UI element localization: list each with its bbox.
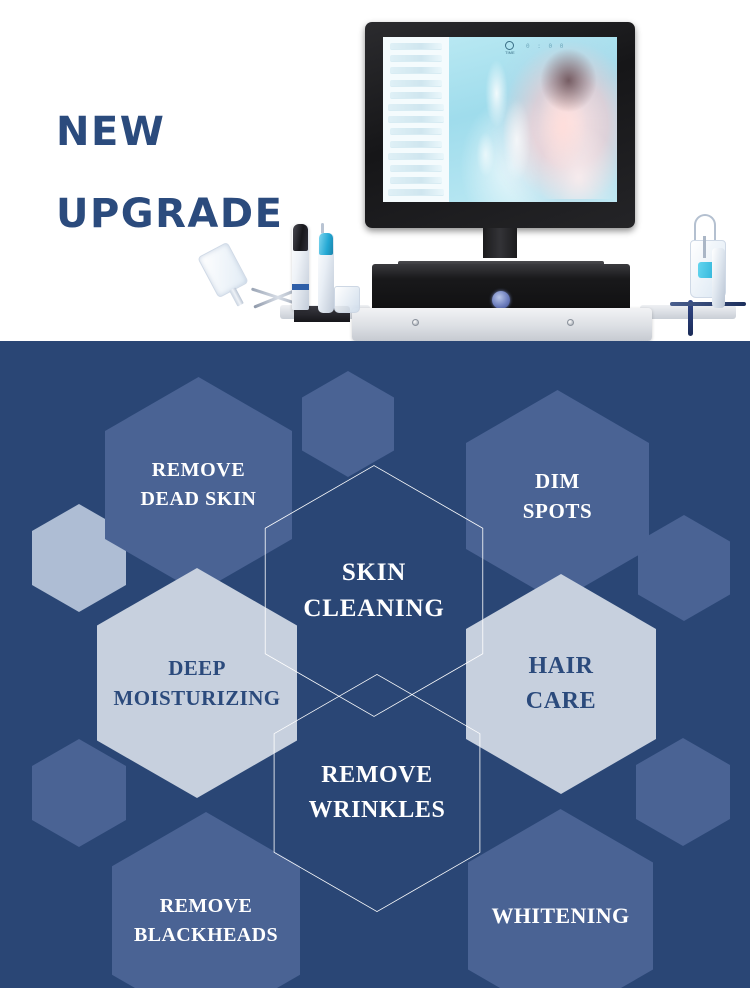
feature-whitening-line1: WHITENING (491, 900, 629, 932)
decorative-hexagon-top-center (302, 371, 394, 477)
sidebar-item-11[interactable] (390, 165, 442, 172)
sidebar-item-12[interactable] (390, 177, 442, 184)
timer-label: TIME (505, 50, 515, 55)
sidebar-item-4[interactable] (390, 80, 442, 87)
product-hero-section: NEW UPGRADE (0, 0, 750, 341)
headline-line-2: UPGRADE (56, 194, 356, 234)
bottle-neck-left (229, 287, 244, 306)
feature-hair-care[interactable]: HAIR CARE (466, 574, 656, 794)
sidebar-item-3[interactable] (390, 67, 442, 74)
features-hexagon-grid: REMOVE DEAD SKIN DIM SPOTS DEEP MOISTURI… (0, 341, 750, 988)
feature-remove-wrinkles-line1: REMOVE (321, 758, 433, 793)
sidebar-item-7[interactable] (388, 116, 444, 123)
sidebar-item-2[interactable] (390, 55, 442, 62)
page-title: NEW UPGRADE (56, 112, 356, 234)
feature-dim-spots-line1: DIM (535, 466, 580, 496)
feature-skin-cleaning-line1: SKIN (342, 555, 406, 591)
decorative-hexagon-right (638, 515, 730, 621)
sidebar-item-10[interactable] (388, 153, 444, 160)
sidebar-item-6[interactable] (388, 104, 444, 111)
machine-top-housing: Power supply (372, 264, 630, 313)
feature-whitening[interactable]: WHITENING (468, 809, 653, 988)
model-face-graphic (516, 47, 617, 199)
timer-digits: 0 : 0 0 (526, 43, 565, 50)
screen-content-area: TIME 0 : 0 0 (449, 37, 617, 202)
handpiece-probe-2-tip (319, 233, 333, 255)
device-monitor: TIME 0 : 0 0 (365, 22, 635, 228)
headline-line-1: NEW (56, 109, 165, 155)
power-indicator-icon (492, 291, 510, 309)
feature-deep-moisturizing-line2: MOISTURIZING (114, 683, 281, 713)
clock-icon (505, 41, 514, 50)
treatment-bottle-left (197, 242, 249, 299)
feature-hair-care-line2: CARE (526, 684, 596, 719)
sidebar-item-8[interactable] (390, 128, 442, 135)
feature-remove-blackheads-line1: REMOVE (160, 892, 252, 921)
feature-remove-wrinkles-line2: WRINKLES (309, 793, 446, 828)
handpiece-probe-1-cap (293, 224, 308, 251)
feature-remove-dead-skin-line1: REMOVE (152, 456, 246, 485)
sidebar-item-1[interactable] (390, 43, 442, 50)
feature-remove-dead-skin-line2: DEAD SKIN (141, 485, 257, 514)
feature-skin-cleaning-line2: CLEANING (303, 591, 444, 627)
solution-cup (334, 286, 360, 313)
sidebar-item-9[interactable] (390, 141, 442, 148)
monitor-screen: TIME 0 : 0 0 (383, 37, 617, 202)
feature-deep-moisturizing-line1: DEEP (168, 653, 226, 683)
feature-dim-spots[interactable]: DIM SPOTS (466, 390, 649, 602)
handpiece-stem-right (703, 236, 706, 258)
machine-base-panel (352, 308, 652, 341)
sidebar-item-5[interactable] (390, 92, 442, 99)
monitor-stand-neck (483, 228, 517, 258)
handpiece-probe-1-band (292, 284, 309, 290)
screen-sidebar-menu[interactable] (383, 37, 449, 202)
handpiece-probe-right (712, 248, 725, 308)
feature-remove-wrinkles[interactable]: REMOVE WRINKLES (272, 672, 482, 914)
feature-remove-blackheads-line2: BLACKHEADS (134, 921, 278, 950)
base-screw-right (567, 319, 574, 326)
feature-dim-spots-line2: SPOTS (523, 496, 593, 526)
timer-widget: TIME (500, 41, 520, 55)
decorative-hexagon-lower-left (32, 739, 126, 847)
base-screw-left (412, 319, 419, 326)
handpiece-rail-right (670, 302, 746, 306)
decorative-hexagon-lower-right (636, 738, 730, 846)
feature-hair-care-line1: HAIR (528, 649, 593, 684)
sidebar-item-13[interactable] (388, 189, 444, 196)
